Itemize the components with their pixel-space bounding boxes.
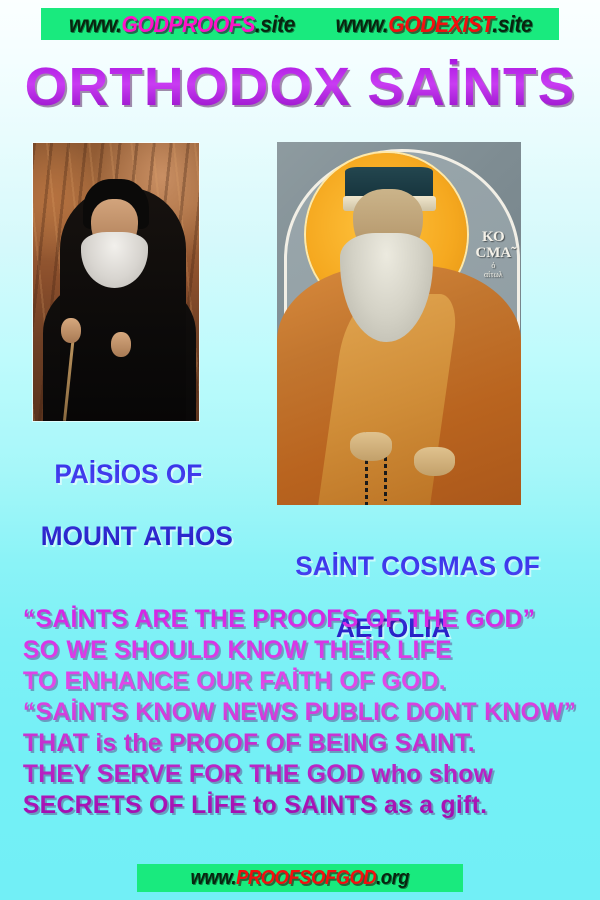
caption-paisios-line-1: PAİSİOS OF (41, 459, 284, 490)
icon-saint-cosmas-of-aetolia: ΚΟ ϹΜΑ̃ ὁ αἰτωλ (277, 142, 521, 505)
saint-left-hand (414, 447, 455, 476)
inscription-line-1: ΚΟ (475, 229, 511, 245)
body-text-block: “SAİNTS ARE THE PROOFS OF THE GOD” SO WE… (23, 604, 587, 821)
body-line-2: SO WE SHOULD KNOW THEİR LIFE (23, 635, 587, 666)
body-line-7: SECRETS OF LİFE to SAINTS as a gift. (23, 790, 587, 821)
url-godproofs[interactable]: www.GODPROOFS.site (69, 11, 295, 38)
page-title: ORTHODOX SAİNTS (0, 58, 600, 116)
body-line-1: “SAİNTS ARE THE PROOFS OF THE GOD” (23, 604, 587, 635)
body-line-6: THEY SERVE FOR THE GOD who show (23, 759, 587, 790)
url-proofsofgod[interactable]: www.PROOFSOFGOD.org (191, 867, 410, 890)
poster-root: www.GODPROOFS.site www.GODEXIST.site ORT… (0, 0, 600, 900)
saint-right-hand (350, 432, 391, 461)
greek-inscription: ΚΟ ϹΜΑ̃ ὁ αἰτωλ (475, 229, 511, 279)
monk-right-hand (111, 332, 131, 357)
url-prefix: www. (69, 11, 122, 37)
bottom-url-banner: www.PROOFSOFGOD.org (137, 864, 463, 892)
url-name: GODPROOFS (122, 11, 255, 37)
top-url-banner: www.GODPROOFS.site www.GODEXIST.site (41, 8, 559, 40)
inscription-small-2: αἰτωλ (475, 270, 511, 279)
url-suffix: .site (492, 11, 532, 37)
url-prefix: www. (335, 11, 388, 37)
caption-paisios-line-2: MOUNT ATHOS (41, 521, 284, 552)
url-godexist[interactable]: www.GODEXIST.site (335, 11, 532, 38)
url-name: GODEXIST (388, 11, 492, 37)
caption-paisios: PAİSİOS OF MOUNT ATHOS (41, 428, 284, 583)
body-line-3: TO ENHANCE OUR FAİTH OF GOD. (23, 666, 587, 697)
url-suffix: .org (376, 867, 409, 889)
monk-left-hand (61, 318, 81, 343)
body-line-4: “SAİNTS KNOW NEWS PUBLIC DONT KNOW” (23, 697, 587, 728)
inscription-small-1: ὁ (475, 261, 511, 270)
photo-paisios-of-mount-athos (33, 143, 199, 421)
url-suffix: .site (255, 11, 295, 37)
url-prefix: www. (191, 867, 237, 889)
inscription-line-2: ϹΜΑ̃ (475, 245, 511, 261)
body-line-5: THAT is the PROOF OF BEING SAINT. (23, 728, 587, 759)
url-name: PROOFSOFGOD (236, 867, 376, 889)
caption-cosmas-line-1: SAİNT COSMAS OF (288, 551, 579, 582)
